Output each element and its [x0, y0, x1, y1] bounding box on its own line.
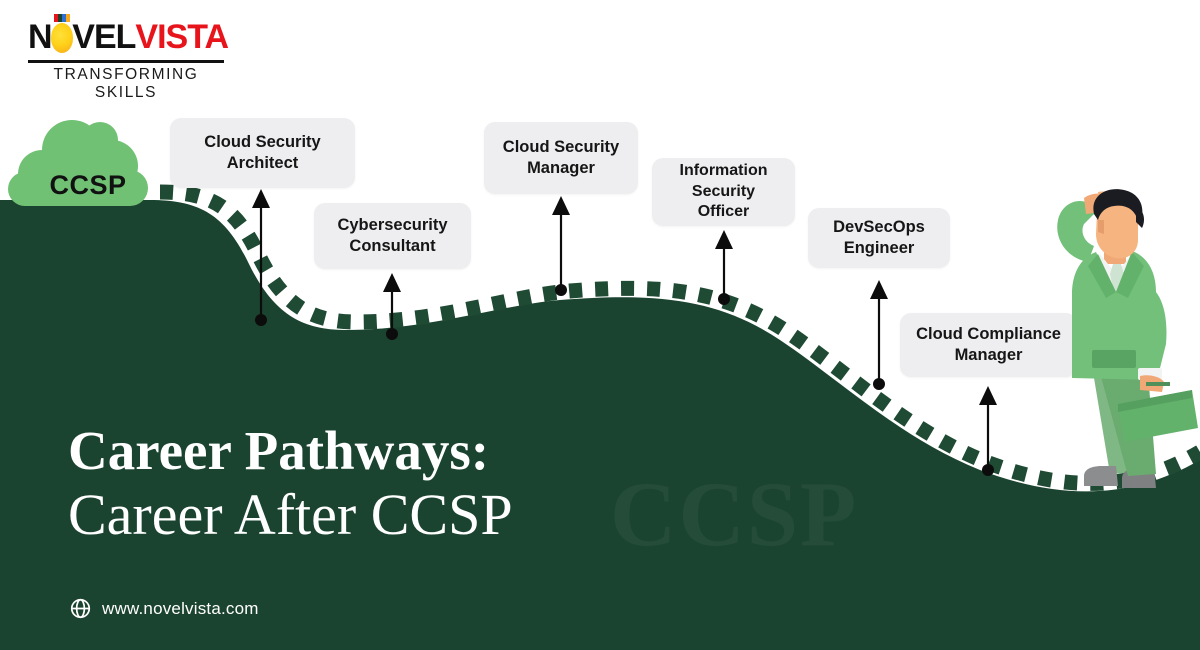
page-title-line1: Career Pathways:	[68, 420, 708, 482]
connector-arrow-cybersecurity-consultant	[383, 273, 401, 340]
footer-url-text: www.novelvista.com	[102, 599, 259, 619]
connector-arrow-cloud-security-architect	[252, 189, 270, 326]
connector-arrow-cloud-security-manager	[552, 196, 570, 296]
connector-arrow-information-security-officer	[715, 230, 733, 305]
page-title-line2: Career After CCSP	[68, 482, 708, 548]
page-title: Career Pathways: Career After CCSP	[68, 420, 708, 548]
connector-arrows	[0, 0, 1200, 650]
connector-arrow-cloud-compliance-manager	[979, 386, 997, 476]
businessman-illustration	[1040, 188, 1200, 518]
connector-arrow-devsecops-engineer	[870, 280, 888, 390]
globe-icon	[70, 598, 91, 619]
infographic-canvas: N VEL VISTA TRANSFORMING SKILLS CCSP Clo…	[0, 0, 1200, 650]
footer-website[interactable]: www.novelvista.com	[70, 598, 259, 619]
